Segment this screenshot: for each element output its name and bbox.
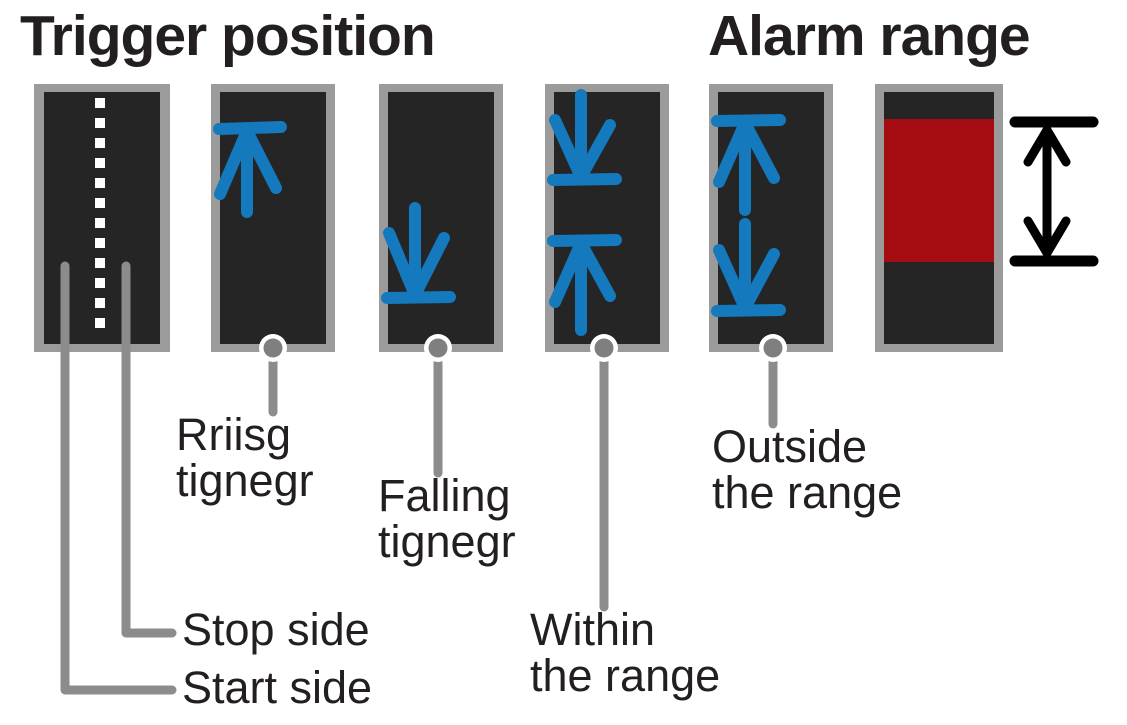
within-range-panel (545, 84, 669, 607)
falling-trigger-leader (424, 334, 452, 473)
callout-stop-side: Stop side (182, 607, 370, 653)
callout-within-range-line1: Within (530, 604, 655, 655)
callout-outside-range: Outside the range (712, 424, 902, 516)
callout-rising-trigger-line2: tignegr (176, 458, 314, 504)
marker-dot (764, 339, 783, 358)
marker-dot (429, 339, 448, 358)
outside-range-panel (709, 84, 833, 424)
within-range-leader (590, 334, 618, 607)
diagram-canvas: Trigger position Alarm range Rriisg tign… (0, 0, 1127, 725)
callout-falling-trigger-line2: tignegr (378, 519, 516, 565)
marker-dot (264, 339, 283, 358)
trigger-position-panel (34, 84, 172, 690)
rising-trigger-leader (259, 334, 287, 412)
page-title-trigger-position: Trigger position (20, 8, 435, 65)
rising-trigger-panel (211, 84, 335, 412)
falling-trigger-panel (379, 84, 503, 473)
alarm-range-band (884, 119, 994, 262)
callout-rising-trigger-line1: Rriisg (176, 409, 291, 460)
page-title-alarm-range: Alarm range (708, 8, 1030, 65)
alarm-range-panel (875, 84, 1093, 352)
range-dimension-indicator (1015, 122, 1093, 261)
callout-within-range: Within the range (530, 607, 720, 699)
callout-falling-trigger: Falling tignegr (378, 473, 516, 565)
callout-outside-range-line2: the range (712, 470, 902, 516)
callout-outside-range-line1: Outside (712, 421, 867, 472)
marker-dot (595, 339, 614, 358)
callout-within-range-line2: the range (530, 653, 720, 699)
panel-screen (388, 92, 494, 344)
callout-rising-trigger: Rriisg tignegr (176, 412, 314, 504)
callout-start-side: Start side (182, 665, 372, 711)
outside-range-leader (759, 334, 787, 424)
callout-falling-trigger-line1: Falling (378, 470, 511, 521)
